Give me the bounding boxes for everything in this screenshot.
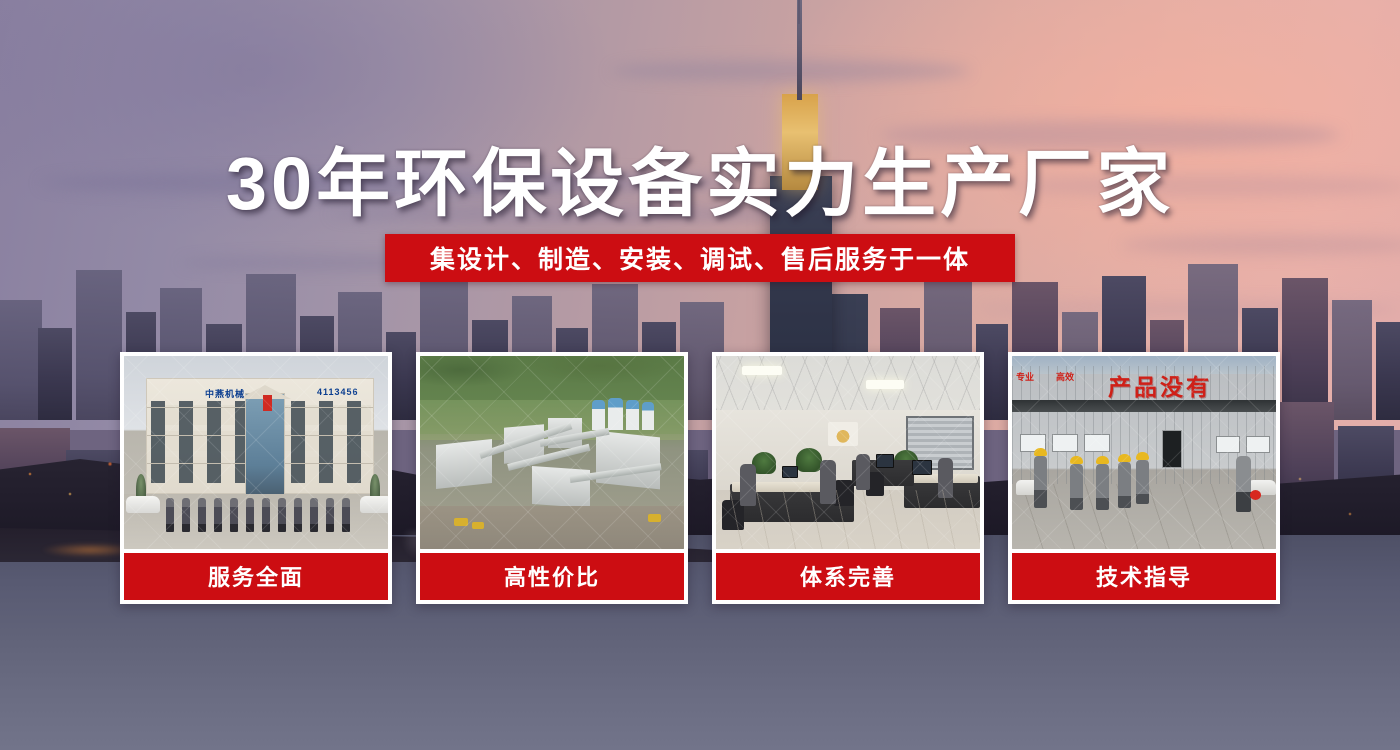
card-caption: 高性价比 — [420, 553, 684, 600]
factory-slogan-small: 高效 — [1056, 372, 1074, 383]
building-sign-logo: 中燕机械 — [205, 387, 245, 400]
feature-card[interactable]: 体系完善 — [712, 352, 984, 604]
card-photo-plant-aerial — [420, 356, 684, 549]
card-photo-headquarters: 中燕机械 4113456 — [124, 356, 388, 549]
tower-spire-tip — [798, 0, 800, 24]
subtitle-text: 集设计、制造、安装、调试、售后服务于一体 — [430, 240, 970, 276]
factory-slogan-small: 专业 — [1016, 372, 1034, 383]
factory-slogan: 产品没有 — [1108, 368, 1212, 402]
card-photo-workers-factory: 专业 高效 产品没有 — [1012, 356, 1276, 549]
feature-card[interactable]: 专业 高效 产品没有 — [1008, 352, 1280, 604]
card-caption: 技术指导 — [1012, 553, 1276, 600]
card-caption: 体系完善 — [716, 553, 980, 600]
feature-card-row: 中燕机械 4113456 — [120, 352, 1280, 604]
hero-banner: 30年环保设备实力生产厂家 集设计、制造、安装、调试、售后服务于一体 中燕机械 … — [0, 0, 1400, 750]
feature-card[interactable]: 中燕机械 4113456 — [120, 352, 392, 604]
card-photo-office-interior — [716, 356, 980, 549]
feature-card[interactable]: 高性价比 — [416, 352, 688, 604]
card-caption: 服务全面 — [124, 553, 388, 600]
page-title: 30年环保设备实力生产厂家 — [0, 124, 1400, 231]
building-sign-phone: 4113456 — [317, 387, 359, 397]
subtitle-banner: 集设计、制造、安装、调试、售后服务于一体 — [385, 234, 1015, 282]
